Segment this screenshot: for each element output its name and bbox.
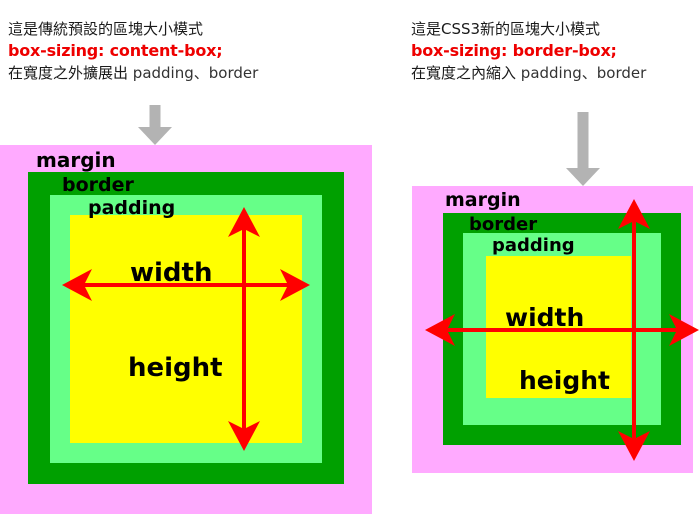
margin-label: margin <box>36 148 116 172</box>
padding-label: padding <box>492 235 575 256</box>
caption-code-declaration: box-sizing: content-box; <box>8 40 258 62</box>
caption-line-1: 這是傳統預設的區塊大小模式 <box>8 18 258 40</box>
content-layer <box>70 215 302 443</box>
down-arrow-icon-right <box>566 112 600 186</box>
caption-line-3-prefix: 在寬度之內縮入 <box>411 64 516 82</box>
box-model-border-box: margin border padding width height <box>412 186 693 473</box>
height-label: height <box>128 353 223 383</box>
caption-line-3: 在寬度之外擴展出 padding、border <box>8 62 258 84</box>
caption-line-1: 這是CSS3新的區塊大小模式 <box>411 18 646 40</box>
height-label: height <box>519 366 610 395</box>
caption-line-3-prefix: 在寬度之外擴展出 <box>8 64 128 82</box>
width-label: width <box>505 303 584 332</box>
border-label: border <box>469 214 537 235</box>
margin-label: margin <box>445 189 521 211</box>
caption-code-declaration: box-sizing: border-box; <box>411 40 646 62</box>
width-label: width <box>130 258 212 288</box>
caption-line-3-terms: padding、border <box>521 64 646 82</box>
down-arrow-icon-left <box>138 105 172 145</box>
caption-border-box: 這是CSS3新的區塊大小模式 box-sizing: border-box; 在… <box>411 18 646 84</box>
diagram-stage: 這是傳統預設的區塊大小模式 box-sizing: content-box; 在… <box>0 0 700 514</box>
caption-content-box: 這是傳統預設的區塊大小模式 box-sizing: content-box; 在… <box>8 18 258 84</box>
padding-label: padding <box>88 197 175 219</box>
box-model-content-box: margin border padding width height <box>0 145 372 514</box>
caption-line-3: 在寬度之內縮入 padding、border <box>411 62 646 84</box>
border-label: border <box>62 174 134 196</box>
caption-line-3-terms: padding、border <box>133 64 258 82</box>
